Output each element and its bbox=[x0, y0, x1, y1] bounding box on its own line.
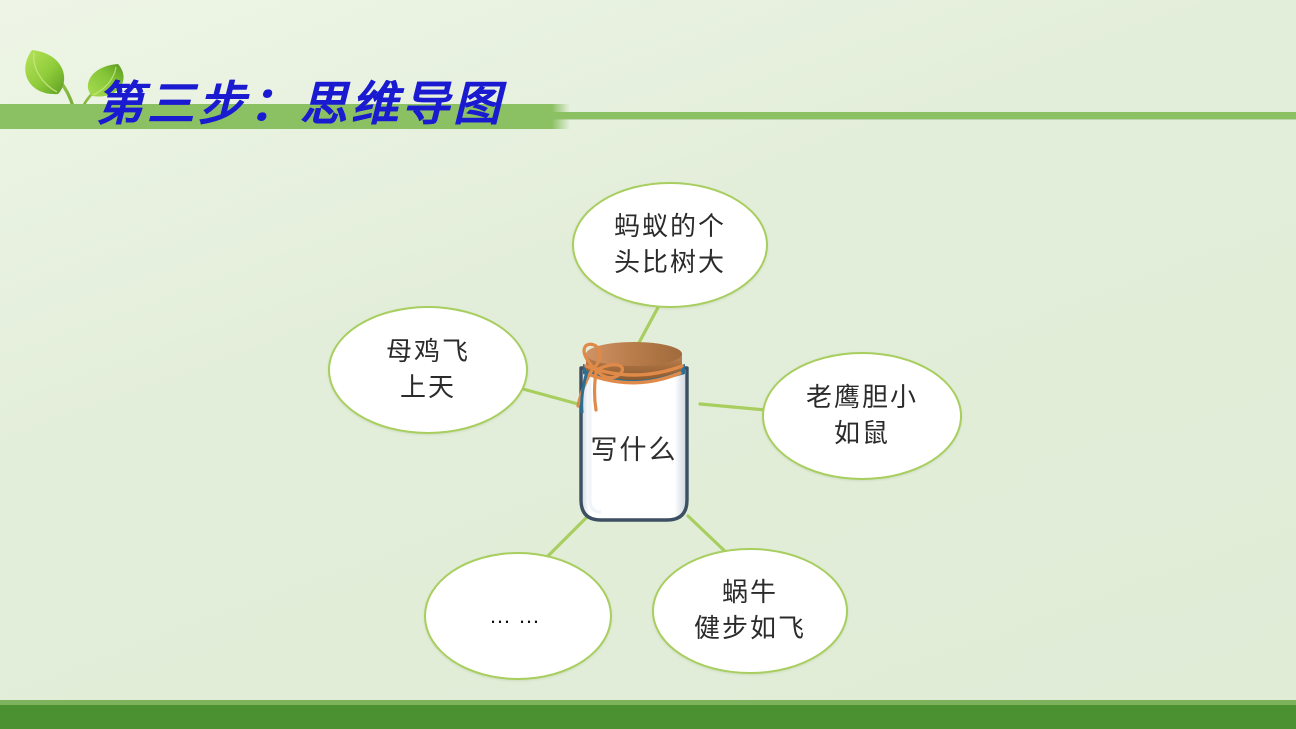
glass-jar-icon[interactable] bbox=[570, 340, 698, 528]
mindmap-node-right[interactable]: 老鹰胆小 如鼠 bbox=[762, 352, 962, 480]
slide-canvas: 第三步：思维导图 蚂蚁的个 头比树大 母鸡飞 上天 老鹰胆小 如鼠 蜗牛 健步如… bbox=[0, 0, 1296, 729]
mindmap-node-bottom-left[interactable]: …… bbox=[424, 552, 612, 680]
mindmap-node-left[interactable]: 母鸡飞 上天 bbox=[328, 306, 528, 434]
mindmap-node-bottom-right[interactable]: 蜗牛 健步如飞 bbox=[652, 548, 848, 674]
page-title: 第三步：思维导图 bbox=[96, 82, 504, 129]
footer-bar bbox=[0, 705, 1296, 729]
jar-body bbox=[581, 368, 687, 520]
connector-right bbox=[700, 404, 766, 410]
mindmap-node-top[interactable]: 蚂蚁的个 头比树大 bbox=[572, 182, 768, 308]
